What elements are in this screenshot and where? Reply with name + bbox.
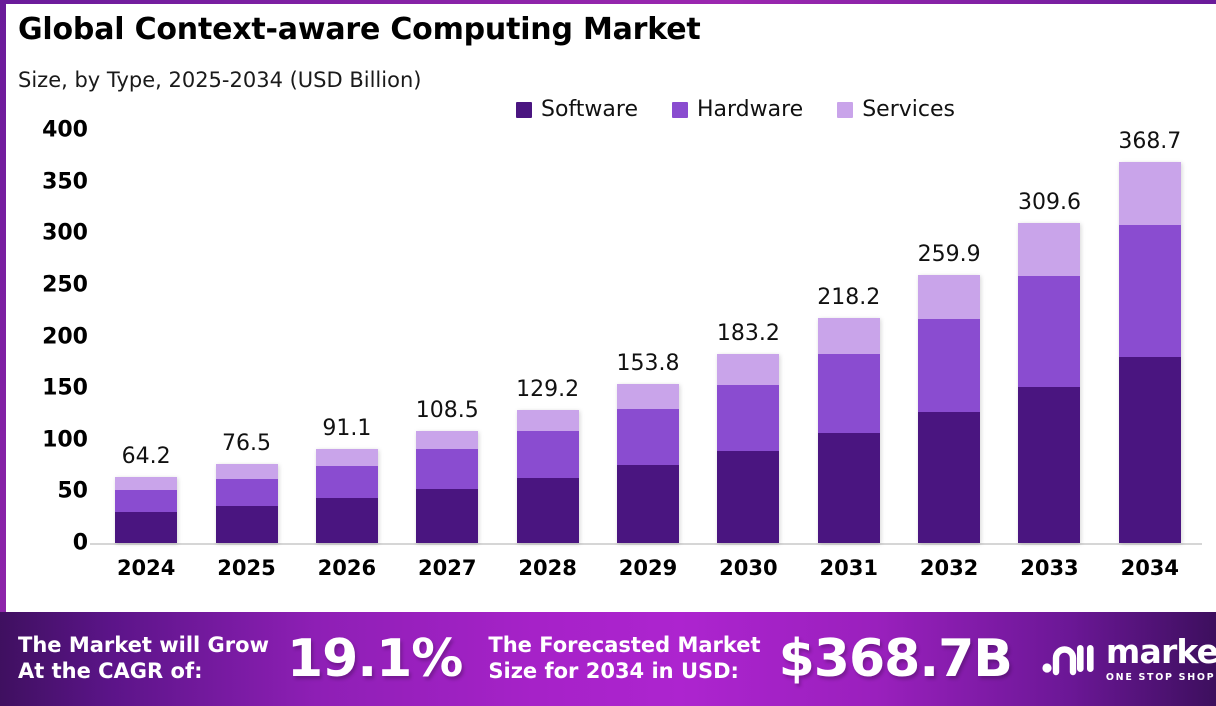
market-us-bars-icon: [1042, 636, 1096, 682]
bar-segment-software[interactable]: [1119, 357, 1181, 543]
cagr-caption-block: The Market will Grow At the CAGR of:: [18, 612, 269, 706]
x-axis-label: 2025: [217, 556, 275, 580]
bar-segment-services[interactable]: [216, 464, 278, 479]
y-axis: 400350300250200150100500: [14, 0, 88, 612]
bar-segment-services[interactable]: [918, 275, 980, 319]
bar-segment-services[interactable]: [818, 318, 880, 355]
bottom-banner: The Market will Grow At the CAGR of: 19.…: [0, 612, 1216, 706]
bar-segment-hardware[interactable]: [316, 466, 378, 498]
forecast-caption: The Forecasted Market Size for 2034 in U…: [488, 633, 760, 684]
stacked-bar[interactable]: [416, 431, 478, 543]
bar-segment-software[interactable]: [617, 465, 679, 543]
bar-segment-services[interactable]: [115, 477, 177, 490]
cagr-caption-line2: At the CAGR of:: [18, 659, 269, 685]
bar-total-label: 64.2: [122, 444, 171, 469]
bar-segment-hardware[interactable]: [717, 385, 779, 451]
bar-group[interactable]: 183.22030: [717, 354, 779, 543]
bar-segment-services[interactable]: [717, 354, 779, 385]
bar-group[interactable]: 91.12026: [316, 449, 378, 543]
x-axis-label: 2033: [1020, 556, 1078, 580]
bar-total-label: 153.8: [617, 351, 680, 376]
bar-total-label: 259.9: [918, 242, 981, 267]
bar-segment-services[interactable]: [1018, 223, 1080, 275]
x-axis-label: 2032: [920, 556, 978, 580]
bar-segment-hardware[interactable]: [115, 490, 177, 512]
y-axis-tick: 0: [73, 531, 88, 556]
x-axis-label: 2024: [117, 556, 175, 580]
bar-segment-software[interactable]: [717, 451, 779, 543]
bar-segment-software[interactable]: [115, 512, 177, 543]
x-axis-label: 2034: [1121, 556, 1179, 580]
stacked-bar[interactable]: [115, 477, 177, 543]
bar-segment-services[interactable]: [517, 410, 579, 431]
y-axis-tick: 350: [42, 169, 88, 194]
bar-segment-software[interactable]: [1018, 387, 1080, 543]
bar-segment-hardware[interactable]: [1018, 276, 1080, 387]
bar-segment-hardware[interactable]: [416, 449, 478, 488]
bar-total-label: 218.2: [817, 285, 880, 310]
bar-segment-hardware[interactable]: [517, 431, 579, 478]
y-axis-tick: 150: [42, 376, 88, 401]
bar-segment-hardware[interactable]: [216, 479, 278, 506]
bar-group[interactable]: 368.72034: [1119, 162, 1181, 543]
y-axis-tick: 50: [57, 479, 88, 504]
stacked-bar[interactable]: [1119, 162, 1181, 543]
cagr-value: 19.1%: [287, 629, 462, 689]
bar-group[interactable]: 76.52025: [216, 464, 278, 543]
x-axis-label: 2031: [819, 556, 877, 580]
bar-segment-software[interactable]: [416, 489, 478, 543]
bar-group[interactable]: 108.52027: [416, 431, 478, 543]
x-axis-label: 2027: [418, 556, 476, 580]
forecast-caption-line2: Size for 2034 in USD:: [488, 659, 760, 685]
bar-segment-hardware[interactable]: [1119, 225, 1181, 357]
bar-group[interactable]: 218.22031: [818, 318, 880, 543]
bar-series-container: 64.2202476.5202591.12026108.52027129.220…: [96, 0, 1200, 612]
y-axis-tick: 300: [42, 221, 88, 246]
stacked-bar[interactable]: [517, 410, 579, 543]
y-axis-tick: 200: [42, 324, 88, 349]
bar-total-label: 108.5: [416, 398, 479, 423]
bar-segment-software[interactable]: [818, 433, 880, 543]
bar-total-label: 368.7: [1118, 129, 1181, 154]
x-axis-label: 2029: [619, 556, 677, 580]
bar-total-label: 76.5: [222, 431, 271, 456]
cagr-caption-line1: The Market will Grow: [18, 633, 269, 659]
forecast-caption-line1: The Forecasted Market: [488, 633, 760, 659]
bar-segment-services[interactable]: [416, 431, 478, 449]
bar-group[interactable]: 129.22028: [517, 410, 579, 543]
bar-group[interactable]: 259.92032: [918, 275, 980, 543]
bar-segment-software[interactable]: [517, 478, 579, 543]
y-axis-tick: 400: [42, 118, 88, 143]
bar-group[interactable]: 153.82029: [617, 384, 679, 543]
bar-segment-services[interactable]: [1119, 162, 1181, 225]
stacked-bar[interactable]: [717, 354, 779, 543]
bar-group[interactable]: 309.62033: [1018, 223, 1080, 543]
x-axis-label: 2030: [719, 556, 777, 580]
bar-total-label: 309.6: [1018, 190, 1081, 215]
logo-tagline: ONE STOP SHOP FOR THE REPORTS: [1106, 672, 1216, 683]
forecast-value: $368.7B: [779, 629, 1012, 689]
bar-segment-software[interactable]: [918, 412, 980, 543]
chart-plot-area: 400350300250200150100500 64.2202476.5202…: [0, 0, 1216, 612]
bar-segment-hardware[interactable]: [617, 409, 679, 465]
market-us-wordmark: market.us ONE STOP SHOP FOR THE REPORTS: [1106, 635, 1216, 683]
bar-group[interactable]: 64.22024: [115, 477, 177, 543]
x-axis-label: 2028: [518, 556, 576, 580]
bar-total-label: 91.1: [322, 416, 371, 441]
bar-total-label: 183.2: [717, 321, 780, 346]
cagr-caption: The Market will Grow At the CAGR of:: [18, 633, 269, 684]
infographic-root: Global Context-aware Computing Market Si…: [0, 0, 1216, 706]
x-axis-label: 2026: [318, 556, 376, 580]
stacked-bar[interactable]: [1018, 223, 1080, 543]
y-axis-tick: 250: [42, 272, 88, 297]
bar-segment-hardware[interactable]: [818, 354, 880, 433]
stacked-bar[interactable]: [818, 318, 880, 543]
stacked-bar[interactable]: [216, 464, 278, 543]
bar-segment-services[interactable]: [316, 449, 378, 466]
bar-segment-services[interactable]: [617, 384, 679, 409]
forecast-caption-block: The Forecasted Market Size for 2034 in U…: [488, 612, 760, 706]
stacked-bar[interactable]: [316, 449, 378, 543]
stacked-bar[interactable]: [918, 275, 980, 543]
stacked-bar[interactable]: [617, 384, 679, 543]
bar-total-label: 129.2: [516, 377, 579, 402]
bar-segment-software[interactable]: [316, 498, 378, 543]
market-us-logo[interactable]: market.us ONE STOP SHOP FOR THE REPORTS: [1042, 635, 1216, 683]
bar-segment-hardware[interactable]: [918, 319, 980, 412]
logo-word: market.us: [1106, 635, 1216, 668]
y-axis-tick: 100: [42, 427, 88, 452]
bar-segment-software[interactable]: [216, 506, 278, 543]
